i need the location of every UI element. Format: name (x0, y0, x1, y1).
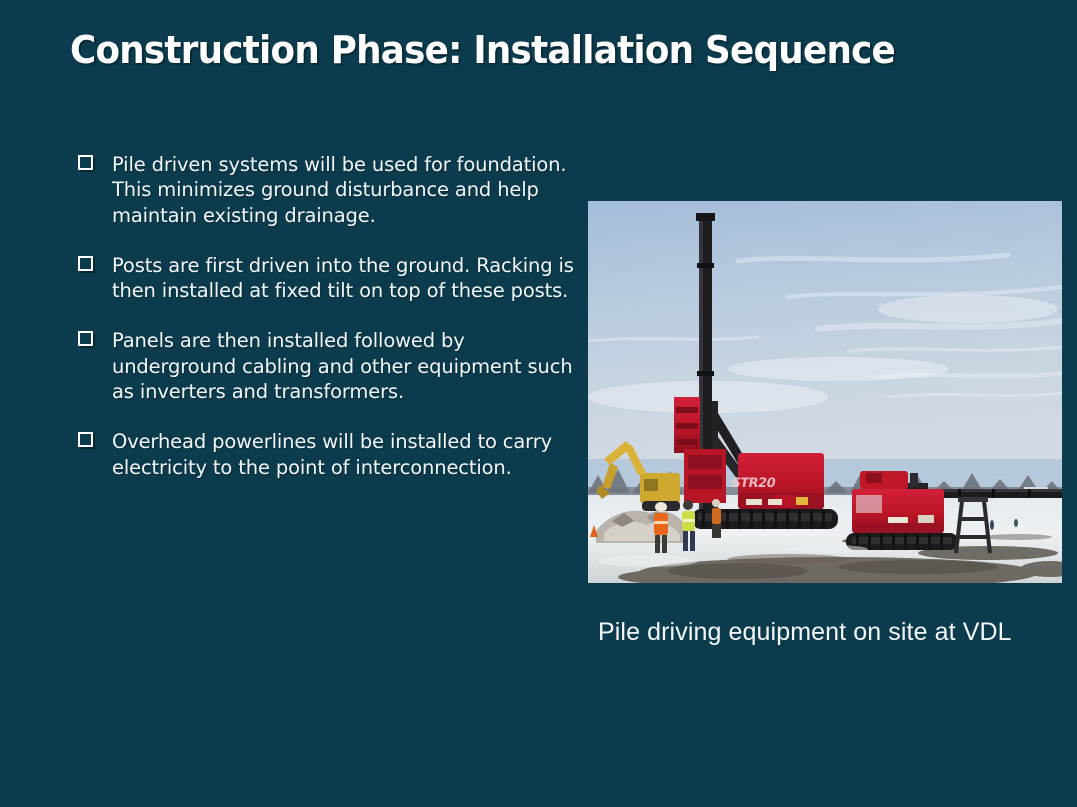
hollow-square-bullet-icon (78, 331, 93, 346)
page-title: Construction Phase: Installation Sequenc… (70, 28, 895, 72)
list-item: Posts are first driven into the ground. … (78, 253, 588, 304)
site-photo-illustration: STR20 (588, 201, 1062, 583)
photo-caption: Pile driving equipment on site at VDL (598, 618, 1012, 647)
svg-text:STR20: STR20 (730, 476, 777, 491)
list-item-text: Pile driven systems will be used for fou… (112, 152, 588, 228)
bullet-list: Pile driven systems will be used for fou… (78, 152, 588, 480)
list-item-text: Panels are then installed followed by un… (112, 328, 588, 404)
hollow-square-bullet-icon (78, 155, 93, 170)
list-item-text: Overhead powerlines will be installed to… (112, 429, 588, 480)
list-item: Pile driven systems will be used for fou… (78, 152, 588, 228)
list-item: Overhead powerlines will be installed to… (78, 429, 588, 480)
list-item: Panels are then installed followed by un… (78, 328, 588, 404)
site-photo: STR20 (588, 201, 1062, 583)
hollow-square-bullet-icon (78, 432, 93, 447)
list-item-text: Posts are first driven into the ground. … (112, 253, 588, 304)
hollow-square-bullet-icon (78, 256, 93, 271)
presentation-slide: Construction Phase: Installation Sequenc… (0, 0, 1077, 807)
